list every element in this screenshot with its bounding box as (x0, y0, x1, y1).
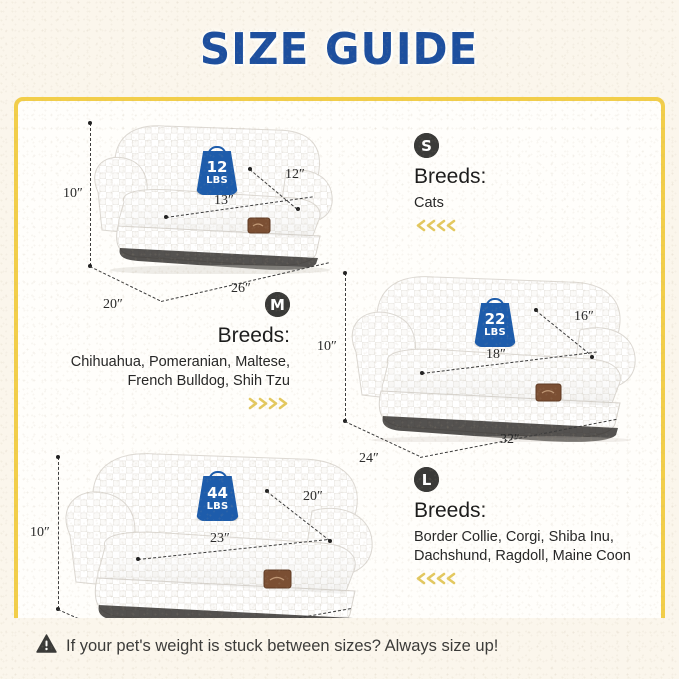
dim-dot (164, 215, 168, 219)
dim-medium-inner-depth: 16″ (574, 309, 594, 325)
dim-large-height: 10″ (30, 525, 50, 541)
weight-number: 44 (207, 486, 228, 501)
dim-medium-height: 10″ (317, 339, 337, 355)
dim-medium-inner-width: 18″ (486, 347, 506, 363)
breeds-label-medium: Breeds: (38, 324, 290, 348)
dim-large-inner-depth: 20″ (303, 489, 323, 505)
dim-small-height: 10″ (63, 186, 83, 202)
dim-dot (328, 539, 332, 543)
bed-image-large (48, 441, 388, 618)
breeds-list-large-line1: Border Collie, Corgi, Shiba Inu, (414, 528, 654, 547)
size-badge-m: M (265, 292, 290, 317)
weight-number: 22 (485, 312, 506, 327)
dim-small-inner-width: 13″ (214, 193, 234, 209)
dim-dot (136, 557, 140, 561)
dim-dot (296, 207, 300, 211)
dim-dot (265, 489, 269, 493)
dim-dot (590, 355, 594, 359)
size-badge-s: S (414, 133, 439, 158)
page-title: SIZE GUIDE (200, 24, 479, 75)
dim-large-inner-width: 23″ (210, 531, 230, 547)
size-info-medium: M Breeds: Chihuahua, Pomeranian, Maltese… (38, 292, 290, 410)
weight-tag-medium: 22 LBS (474, 303, 516, 347)
breeds-list-medium-line1: Chihuahua, Pomeranian, Maltese, (38, 353, 290, 372)
weight-number: 12 (207, 160, 228, 175)
weight-tag-small: 12 LBS (196, 151, 238, 195)
weight-unit: LBS (207, 502, 229, 512)
dim-dot (420, 371, 424, 375)
breeds-list-medium-line2: French Bulldog, Shih Tzu (38, 372, 290, 391)
page-title-container: SIZE GUIDE (0, 24, 679, 75)
size-info-large: L Breeds: Border Collie, Corgi, Shiba In… (414, 467, 654, 585)
dim-small-inner-depth: 12″ (285, 167, 305, 183)
dim-dot (534, 308, 538, 312)
weight-tag-large: 44 LBS (196, 476, 239, 521)
breeds-label-small: Breeds: (414, 165, 650, 189)
breeds-list-large-line2: Dachshund, Ragdoll, Maine Coon (414, 547, 654, 566)
dim-line-large-height (58, 457, 59, 609)
size-info-small: S Breeds: Cats (414, 133, 650, 232)
breeds-list-small: Cats (414, 194, 650, 213)
weight-unit: LBS (206, 176, 228, 186)
footer-note: If your pet's weight is stuck between si… (36, 634, 498, 658)
footer-note-text: If your pet's weight is stuck between si… (66, 637, 498, 656)
warning-triangle-icon (36, 634, 57, 658)
size-badge-l: L (414, 467, 439, 492)
weight-unit: LBS (484, 328, 506, 338)
dim-line-medium-height (345, 273, 346, 421)
dim-dot (248, 167, 252, 171)
breeds-label-large: Breeds: (414, 499, 654, 523)
arrow-left-icon-large (414, 572, 654, 585)
size-guide-card: 10″ 20″ 26″ 13″ 12″ 12 LBS S Breeds: Cat… (14, 97, 665, 618)
arrow-left-icon-small (414, 219, 650, 232)
arrow-right-icon-medium (38, 397, 290, 410)
dim-dot (88, 121, 92, 125)
dim-dot (343, 271, 347, 275)
dim-medium-outer-width: 32″ (500, 432, 520, 448)
dim-line-small-height (90, 123, 91, 266)
dim-dot (56, 455, 60, 459)
